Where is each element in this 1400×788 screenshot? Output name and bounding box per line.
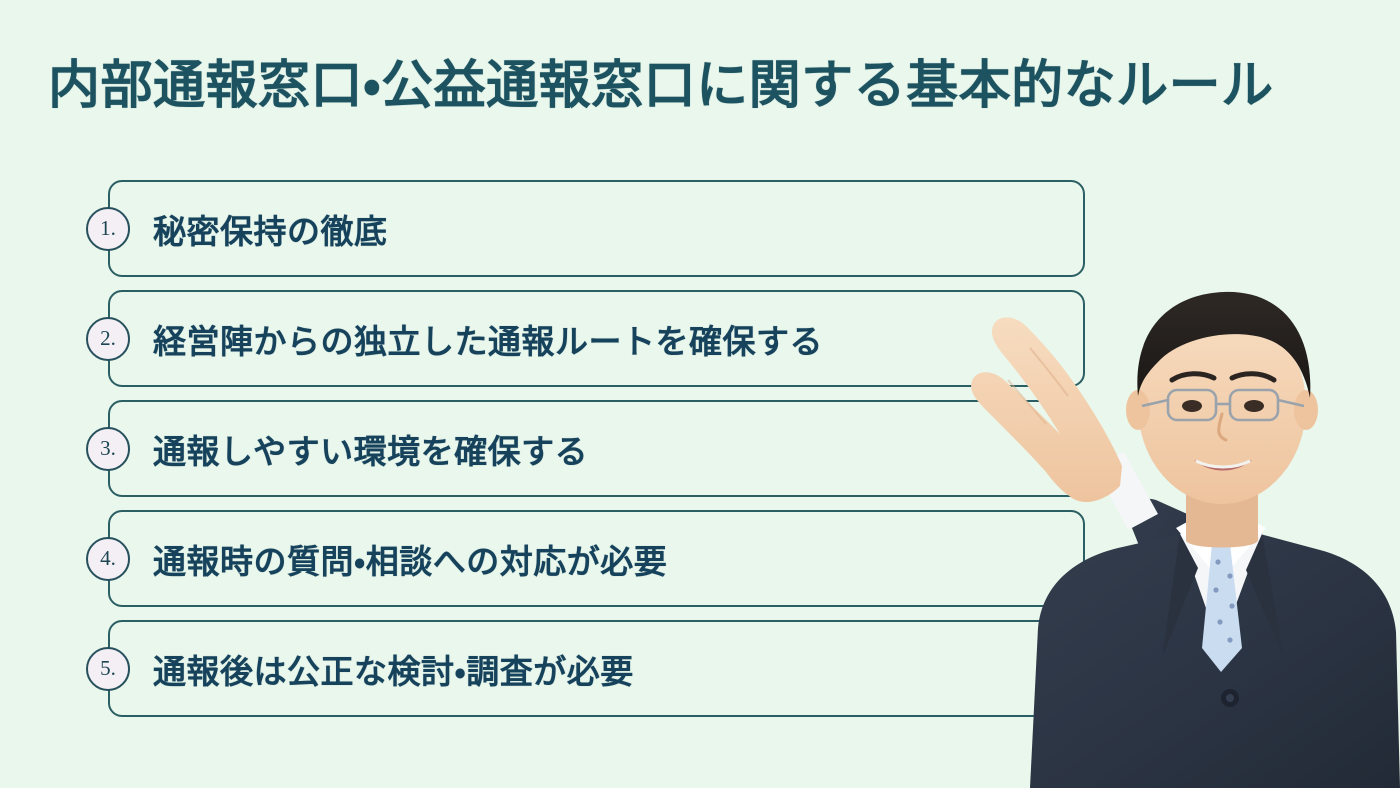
rule-label-2: 経営陣からの独立した通報ルートを確保する (153, 315, 823, 363)
rule-item-1[interactable]: 1. 秘密保持の徹底 (108, 180, 1085, 277)
rule-label-5: 通報後は公正な検討・調査が必要 (153, 645, 634, 693)
rule-label-1: 秘密保持の徹底 (153, 205, 388, 253)
rule-number-badge-3: 3. (86, 427, 130, 471)
rule-item-5[interactable]: 5. 通報後は公正な検討・調査が必要 (108, 620, 1085, 717)
rule-number-badge-5: 5. (86, 647, 130, 691)
rule-label-4: 通報時の質問・相談への対応が必要 (153, 535, 667, 583)
rule-item-4[interactable]: 4. 通報時の質問・相談への対応が必要 (108, 510, 1085, 607)
page-title: 内部通報窓口・公益通報窓口に関する基本的なルール (48, 57, 1368, 117)
rule-number-badge-2: 2. (86, 317, 130, 361)
rule-label-3: 通報しやすい環境を確保する (153, 425, 588, 473)
rule-number-badge-4: 4. (86, 537, 130, 581)
slide-canvas: 内部通報窓口・公益通報窓口に関する基本的なルール 1. 秘密保持の徹底 2. 経… (0, 0, 1400, 788)
rule-item-3[interactable]: 3. 通報しやすい環境を確保する (108, 400, 1085, 497)
rule-number-badge-1: 1. (86, 207, 130, 251)
rule-list: 1. 秘密保持の徹底 2. 経営陣からの独立した通報ルートを確保する 3. 通報… (0, 180, 1400, 720)
rule-item-2[interactable]: 2. 経営陣からの独立した通報ルートを確保する (108, 290, 1085, 387)
